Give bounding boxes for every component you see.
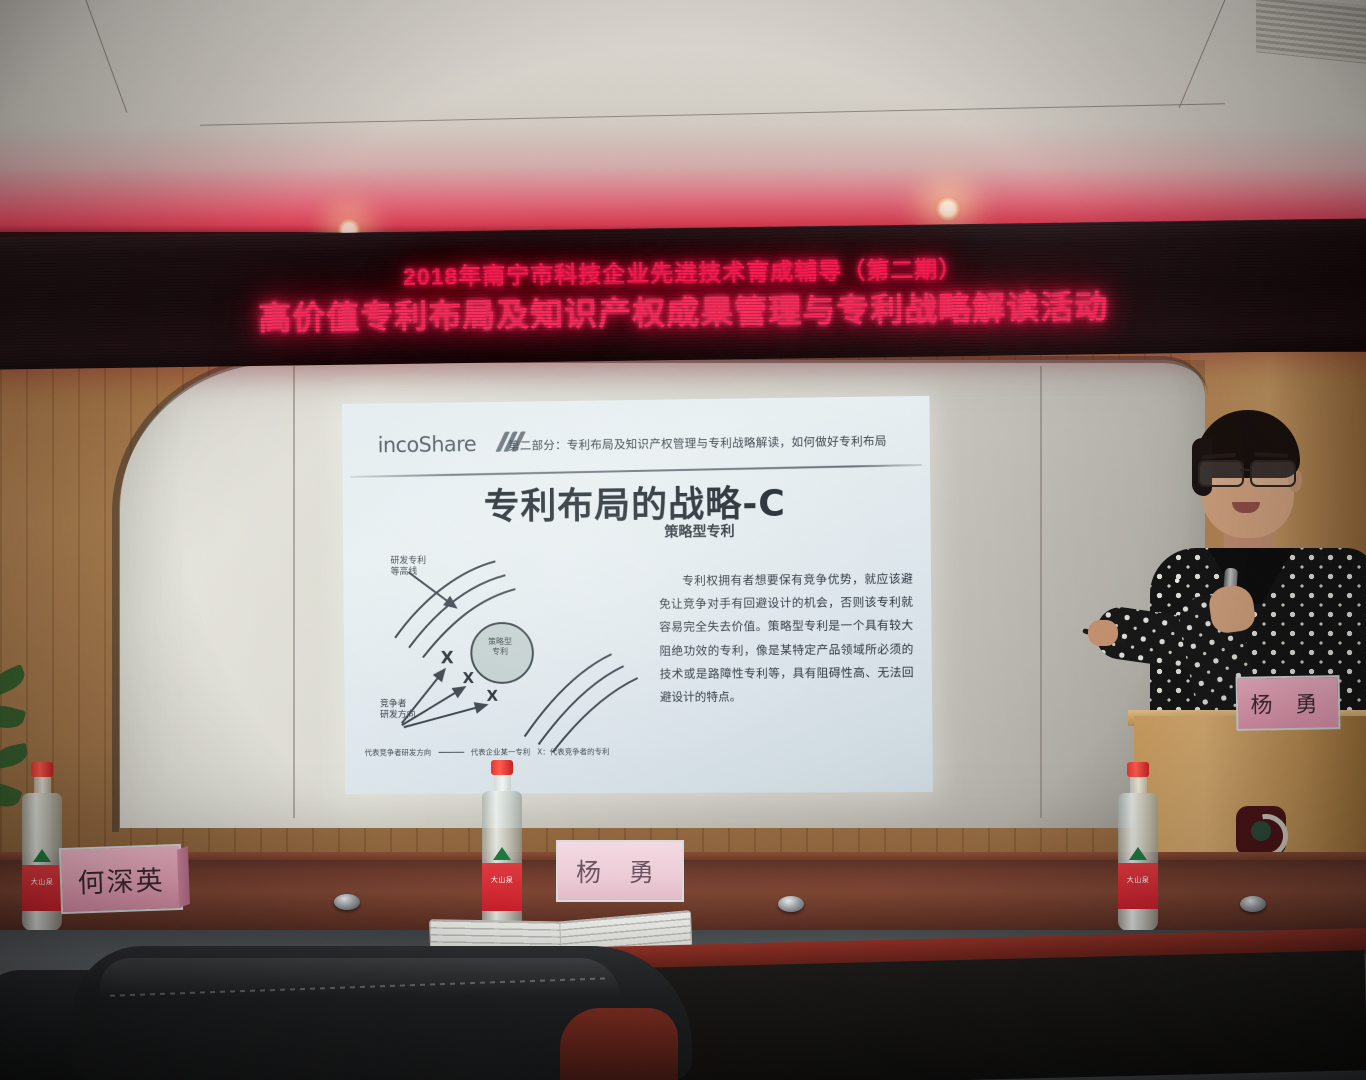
water-bottle[interactable]: 大山泉 — [20, 762, 64, 931]
legend-line-item: 代表企业某一专利 — [471, 746, 531, 757]
bottle-label — [1118, 863, 1158, 909]
bottle-body: 大山泉 — [482, 791, 522, 931]
bottle-neck — [494, 775, 511, 791]
podium-emblem-icon — [1236, 806, 1286, 856]
bottle-cap — [31, 762, 53, 777]
bottle-label — [22, 865, 62, 911]
ceiling-seam — [200, 103, 1225, 125]
air-vent-grille — [1256, 0, 1366, 64]
bottle-body: 大山泉 — [22, 793, 62, 931]
led-banner: 2018年南宁市科技企业先进技术育成辅导（第二期） 高价值专利布局及知识产权成果… — [0, 218, 1366, 369]
backdrop-seam — [293, 366, 295, 818]
projected-slide: incoShare 第二部分：专利布局及知识产权管理与专利战略解读，如何做好专利… — [342, 396, 933, 794]
conference-hall-photo: 2018年南宁市科技企业先进技术育成辅导（第二期） 高价值专利布局及知识产权成果… — [0, 0, 1366, 1080]
diagram-legend: 代表竞争者研发方向 代表企业某一专利 X：代表竞争者的专利 — [365, 746, 655, 758]
svg-text:X: X — [487, 687, 499, 705]
bottle-cap — [491, 760, 513, 775]
glasses-lens-right — [1250, 460, 1296, 487]
svg-text:X: X — [463, 669, 475, 687]
legend-line-icon — [438, 752, 464, 753]
bottle-label-text: 大山泉 — [22, 877, 62, 887]
table-nameplate[interactable]: 何深英 — [59, 844, 183, 914]
bottle-logo-icon — [33, 849, 51, 862]
bottle-neck — [34, 777, 51, 793]
bottle-logo-icon — [1129, 847, 1147, 860]
diagram-label-contour: 研发专利等高线 — [390, 556, 426, 579]
bottle-label-text: 大山泉 — [482, 875, 522, 885]
incoshare-logo-text: incoShare — [378, 432, 477, 457]
bottle-label-text: 大山泉 — [1118, 875, 1158, 885]
bottle-logo-icon — [493, 847, 511, 860]
presenter-hand-left — [1088, 620, 1118, 646]
slide-section-header: 第二部分：专利布局及知识产权管理与专利战略解读，如何做好专利布局 — [508, 432, 920, 453]
diagram-circle-label: 策略型专利 — [474, 637, 526, 656]
ceiling-seam-left — [84, 0, 127, 113]
table-nameplate[interactable]: 杨 勇 — [556, 840, 684, 902]
legend-arrow-item: 代表竞争者研发方向 — [365, 747, 432, 758]
water-bottle[interactable]: 大山泉 — [1116, 762, 1160, 931]
ceiling-downlight — [935, 196, 961, 222]
bottle-neck — [1130, 777, 1147, 793]
emblem-center-dot — [1251, 821, 1271, 841]
bottle-cap — [1127, 762, 1149, 777]
chair-wooden-trim — [560, 1008, 678, 1080]
water-bottle[interactable]: 大山泉 — [480, 760, 524, 931]
svg-text:X: X — [441, 647, 454, 667]
slide-diagram: X X X 研发专利等高线 竞争者研发方向 策略型专利 代表竞争者研发方向 代表… — [357, 540, 657, 781]
diagram-label-competitor: 竞争者研发方向 — [380, 699, 416, 722]
backdrop-seam — [1040, 366, 1042, 818]
bottle-body: 大山泉 — [1118, 793, 1158, 931]
podium-nameplate: 杨 勇 — [1236, 675, 1341, 731]
glasses-icon — [1198, 460, 1302, 484]
bottle-label — [482, 863, 522, 911]
cable-grommet[interactable] — [334, 894, 360, 910]
glasses-lens-left — [1198, 460, 1244, 487]
slide-body-text: 专利权拥有者想要保有竞争优势，就应该避免让竞争对手有回避设计的机会，否则该专利就… — [659, 567, 914, 709]
slide-header: incoShare 第二部分：专利布局及知识产权管理与专利战略解读，如何做好专利… — [342, 420, 930, 468]
cable-grommet[interactable] — [1240, 896, 1266, 912]
ceiling-seam-right — [1179, 0, 1228, 108]
glasses-bridge — [1240, 469, 1252, 471]
ceiling — [0, 0, 1366, 232]
cable-grommet[interactable] — [778, 896, 804, 912]
legend-x-item: X：代表竞争者的专利 — [537, 746, 609, 757]
